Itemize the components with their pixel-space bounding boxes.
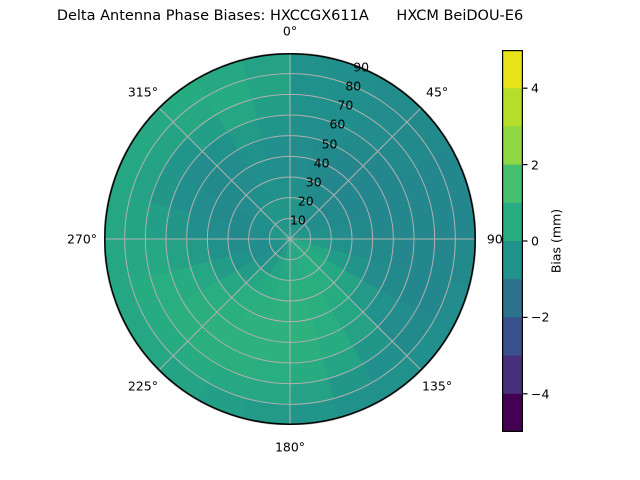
angle-tick-label-225: 225°	[128, 379, 158, 394]
colorbar-band	[502, 317, 523, 356]
colorbar-band	[502, 279, 523, 318]
colorbar-bands	[502, 50, 523, 432]
angle-tick-label-270: 270°	[67, 232, 97, 247]
colorbar-tick-label: 4	[531, 81, 539, 96]
colorbar-band	[502, 88, 523, 127]
page-title: Delta Antenna Phase Biases: HXCCGX611A H…	[0, 8, 580, 24]
colorbar-band	[502, 50, 523, 89]
colorbar-band	[502, 203, 523, 242]
colorbar-tick-label: 0	[531, 234, 539, 249]
radial-tick-label-20: 20	[298, 193, 314, 208]
polar-plot-svg	[104, 53, 476, 425]
radial-tick-label-60: 60	[329, 117, 345, 132]
angle-tick-label-45: 45°	[426, 84, 448, 99]
radial-tick-label-40: 40	[314, 155, 330, 170]
radial-tick-label-70: 70	[337, 98, 353, 113]
colorbar: 420−2−4	[502, 50, 523, 432]
radial-tick-label-80: 80	[345, 79, 361, 94]
angle-tick-label-0: 0°	[283, 24, 297, 39]
colorbar-ticks	[523, 88, 528, 394]
colorbar-band	[502, 241, 523, 280]
colorbar-axis-label: Bias (mm)	[549, 209, 564, 273]
colorbar-svg	[502, 50, 529, 432]
colorbar-band	[502, 394, 523, 432]
angle-tick-label-135: 135°	[422, 379, 452, 394]
polar-gridlines	[104, 53, 476, 425]
angle-tick-label-315: 315°	[128, 84, 158, 99]
colorbar-band	[502, 356, 523, 395]
colorbar-tick-label: −2	[531, 310, 549, 325]
radial-tick-label-50: 50	[322, 136, 338, 151]
polar-plot: 0°45°90°135°180°225°270°315° 10203040506…	[104, 53, 476, 425]
radial-tick-label-10: 10	[290, 212, 306, 227]
colorbar-band	[502, 126, 523, 165]
colorbar-band	[502, 165, 523, 204]
radial-tick-label-90: 90	[353, 60, 369, 75]
colorbar-tick-label: −4	[531, 386, 549, 401]
figure-canvas: Delta Antenna Phase Biases: HXCCGX611A H…	[0, 0, 640, 480]
colorbar-tick-label: 2	[531, 157, 539, 172]
angle-tick-label-180: 180°	[275, 440, 305, 455]
radial-tick-label-30: 30	[306, 174, 322, 189]
